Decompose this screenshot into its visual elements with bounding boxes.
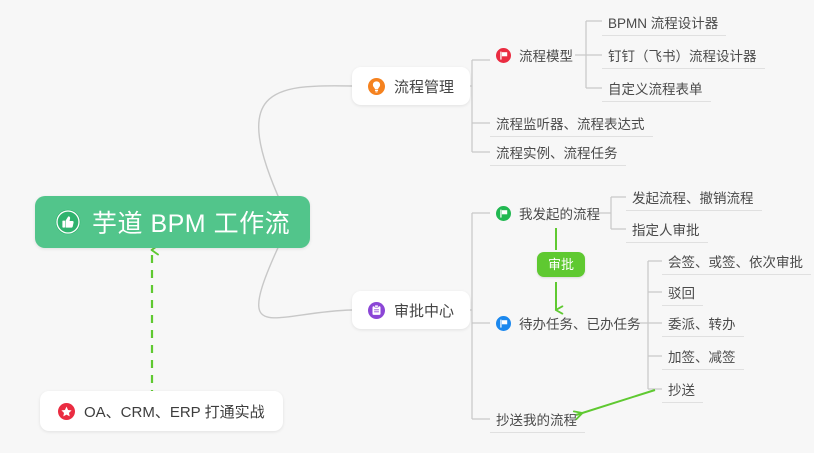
node-reject[interactable]: 驳回 bbox=[662, 278, 703, 306]
annotation-chip-approve-label: 审批 bbox=[548, 257, 574, 272]
node-add-remove-sign[interactable]: 加签、减签 bbox=[662, 342, 744, 370]
node-delegate-transfer[interactable]: 委派、转办 bbox=[662, 309, 744, 337]
node-label-todo-done-tasks: 待办任务、已办任务 bbox=[519, 313, 641, 333]
branch-label-approval-center: 审批中心 bbox=[394, 300, 454, 321]
node-label-delegate-transfer: 委派、转办 bbox=[668, 313, 736, 333]
node-todo-done-tasks[interactable]: 待办任务、已办任务 bbox=[490, 309, 649, 337]
node-label-process-model: 流程模型 bbox=[519, 45, 573, 65]
node-countersign[interactable]: 会签、或签、依次审批 bbox=[662, 247, 811, 275]
node-label-countersign: 会签、或签、依次审批 bbox=[668, 251, 803, 271]
node-label-my-started-process: 我发起的流程 bbox=[519, 203, 600, 223]
node-label-custom-form: 自定义流程表单 bbox=[608, 78, 703, 98]
node-my-started-process[interactable]: 我发起的流程 bbox=[490, 199, 608, 227]
node-label-instance-task: 流程实例、流程任务 bbox=[496, 142, 618, 162]
node-listener-expression[interactable]: 流程监听器、流程表达式 bbox=[490, 109, 653, 137]
node-custom-form[interactable]: 自定义流程表单 bbox=[602, 74, 711, 102]
root-node[interactable]: 芋道 BPM 工作流 bbox=[35, 196, 310, 248]
node-start-cancel-process[interactable]: 发起流程、撤销流程 bbox=[626, 183, 762, 211]
node-label-assignee-approval: 指定人审批 bbox=[632, 219, 700, 239]
flag-icon bbox=[496, 316, 511, 331]
node-bpmn-designer[interactable]: BPMN 流程设计器 bbox=[602, 8, 726, 36]
flow-arrow-cc-to-cc-mine bbox=[576, 390, 655, 415]
branch-node-process-management[interactable]: 流程管理 bbox=[352, 67, 470, 105]
node-dingtalk-designer[interactable]: 钉钉（飞书）流程设计器 bbox=[602, 41, 765, 69]
node-cc-to-me[interactable]: 抄送我的流程 bbox=[490, 405, 585, 433]
branch-node-approval-center[interactable]: 审批中心 bbox=[352, 291, 470, 329]
lightbulb-icon bbox=[368, 78, 385, 95]
link-root-to-process-management bbox=[259, 86, 352, 205]
node-label-bpmn-designer: BPMN 流程设计器 bbox=[608, 12, 718, 32]
node-label-start-cancel-process: 发起流程、撤销流程 bbox=[632, 187, 754, 207]
node-label-reject: 驳回 bbox=[668, 282, 695, 302]
flag-icon bbox=[496, 206, 511, 221]
mindmap-canvas: 芋道 BPM 工作流 流程管理 流程模型 BPMN 流程设计器 钉钉（飞书 bbox=[0, 0, 814, 453]
node-process-model[interactable]: 流程模型 bbox=[490, 41, 581, 69]
flag-icon bbox=[496, 48, 511, 63]
thumbs-up-icon bbox=[55, 209, 81, 235]
node-assignee-approval[interactable]: 指定人审批 bbox=[626, 215, 708, 243]
node-label-listener-expression: 流程监听器、流程表达式 bbox=[496, 113, 645, 133]
node-cc[interactable]: 抄送 bbox=[662, 375, 703, 403]
clipboard-icon bbox=[368, 302, 385, 319]
root-node-label: 芋道 BPM 工作流 bbox=[92, 204, 290, 240]
node-label-cc: 抄送 bbox=[668, 379, 695, 399]
node-label-dingtalk-designer: 钉钉（飞书）流程设计器 bbox=[608, 45, 757, 65]
node-label-add-remove-sign: 加签、减签 bbox=[668, 346, 736, 366]
branch-label-process-management: 流程管理 bbox=[394, 76, 454, 97]
link-root-to-approval-center bbox=[259, 239, 352, 318]
node-label-cc-to-me: 抄送我的流程 bbox=[496, 409, 577, 429]
detached-node-integration[interactable]: OA、CRM、ERP 打通实战 bbox=[40, 391, 283, 431]
detached-node-integration-label: OA、CRM、ERP 打通实战 bbox=[84, 401, 265, 422]
annotation-chip-approve: 审批 bbox=[537, 252, 585, 277]
star-icon bbox=[58, 403, 75, 420]
node-instance-task[interactable]: 流程实例、流程任务 bbox=[490, 138, 626, 166]
